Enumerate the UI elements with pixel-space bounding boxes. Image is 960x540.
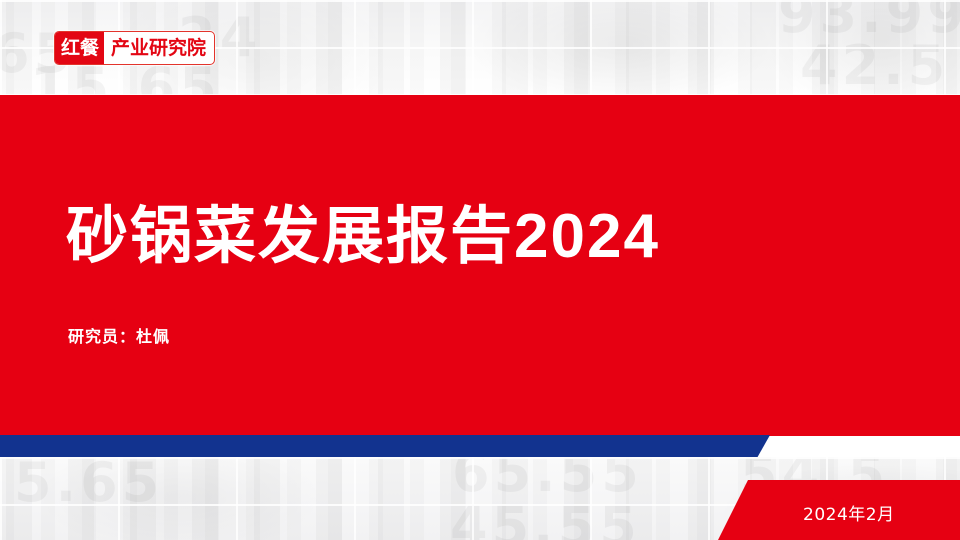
slide-canvas: 65 24 93.99 42.5 15.65 红餐 产业研究院 砂锅菜发展报告2… (0, 0, 960, 540)
brand-logo-mark: 红餐 (55, 32, 104, 64)
brand-logo[interactable]: 红餐 产业研究院 (54, 31, 215, 65)
researcher-byline: 研究员：杜佩 (68, 323, 170, 347)
brand-logo-wordmark: 产业研究院 (104, 32, 214, 64)
page-title: 砂锅菜发展报告2024 (66, 202, 660, 271)
blue-accent-bar (0, 435, 770, 458)
date-label: 2024年2月 (803, 500, 895, 525)
